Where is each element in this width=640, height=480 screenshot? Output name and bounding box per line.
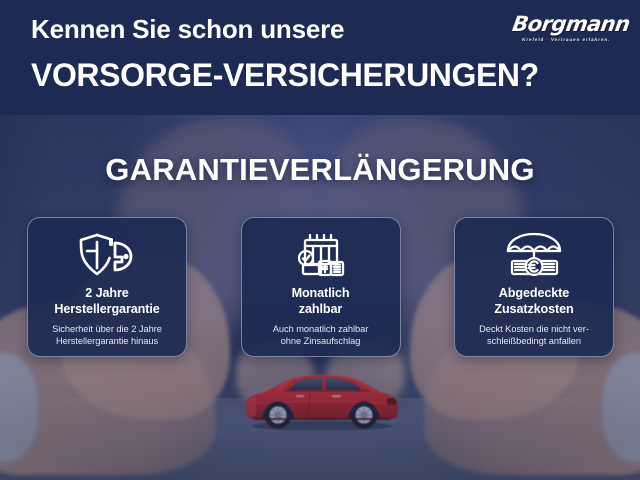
feature-card-desc-line2: ohne Zinsaufschlag — [273, 335, 369, 347]
shield-check-icon — [74, 231, 140, 279]
feature-card-title: Abgedeckte Zusatzkosten — [494, 286, 573, 318]
feature-card-title-line2: Herstellergarantie — [54, 302, 159, 318]
feature-card-description: Deckt Kosten die nicht ver- schleißbedin… — [479, 323, 589, 348]
feature-card-desc-line1: Sicherheit über die 2 Jahre — [52, 323, 162, 335]
umbrella-euro-coins-icon — [503, 231, 565, 279]
logo-tagline-separator: · — [546, 37, 549, 42]
feature-card-extra-costs[interactable]: Abgedeckte Zusatzkosten Deckt Kosten die… — [454, 217, 614, 357]
feature-card-desc-line2: Herstellergarantie hinaus — [52, 335, 162, 347]
feature-card-description: Auch monatlich zahlbar ohne Zinsaufschla… — [273, 323, 369, 348]
logo-wordmark: Borgmann — [511, 14, 626, 35]
headline-secondary: VORSORGE-VERSICHERUNGEN? — [31, 57, 539, 94]
feature-card-description: Sicherheit über die 2 Jahre Herstellerga… — [52, 323, 162, 348]
feature-card-warranty[interactable]: 2 Jahre Herstellergarantie Sicherheit üb… — [27, 217, 187, 357]
feature-card-title: 2 Jahre Herstellergarantie — [54, 286, 159, 318]
promo-banner: Kennen Sie schon unsere VORSORGE-VERSICH… — [0, 0, 640, 480]
feature-card-monthly-payment[interactable]: Monatlich zahlbar Auch monatlich zahlbar… — [241, 217, 401, 357]
feature-card-title-line2: Zusatzkosten — [494, 302, 573, 318]
feature-card-desc-line2: schleißbedingt anfallen — [479, 335, 589, 347]
feature-card-title-line1: Monatlich — [292, 286, 350, 302]
feature-card-desc-line1: Deckt Kosten die nicht ver- — [479, 323, 589, 335]
logo-tagline-right: Vertrauen erfahren. — [551, 37, 611, 42]
feature-card-list: 2 Jahre Herstellergarantie Sicherheit üb… — [27, 217, 614, 357]
borgmann-logo[interactable]: Borgmann Krefeld · Vertrauen erfahren. — [510, 14, 626, 42]
feature-card-title-line1: Abgedeckte — [494, 286, 573, 302]
headline-primary: Kennen Sie schon unsere — [31, 14, 344, 45]
calendar-coins-icon — [292, 231, 350, 279]
feature-card-desc-line1: Auch monatlich zahlbar — [273, 323, 369, 335]
logo-tagline-left: Krefeld — [522, 37, 545, 42]
feature-card-title: Monatlich zahlbar — [292, 286, 350, 318]
header-band: Kennen Sie schon unsere VORSORGE-VERSICH… — [0, 0, 640, 115]
logo-tagline: Krefeld · Vertrauen erfahren. — [510, 37, 623, 42]
feature-card-title-line2: zahlbar — [292, 302, 350, 318]
feature-card-title-line1: 2 Jahre — [54, 286, 159, 302]
page-title: GARANTIEVERLÄNGERUNG — [0, 152, 640, 188]
